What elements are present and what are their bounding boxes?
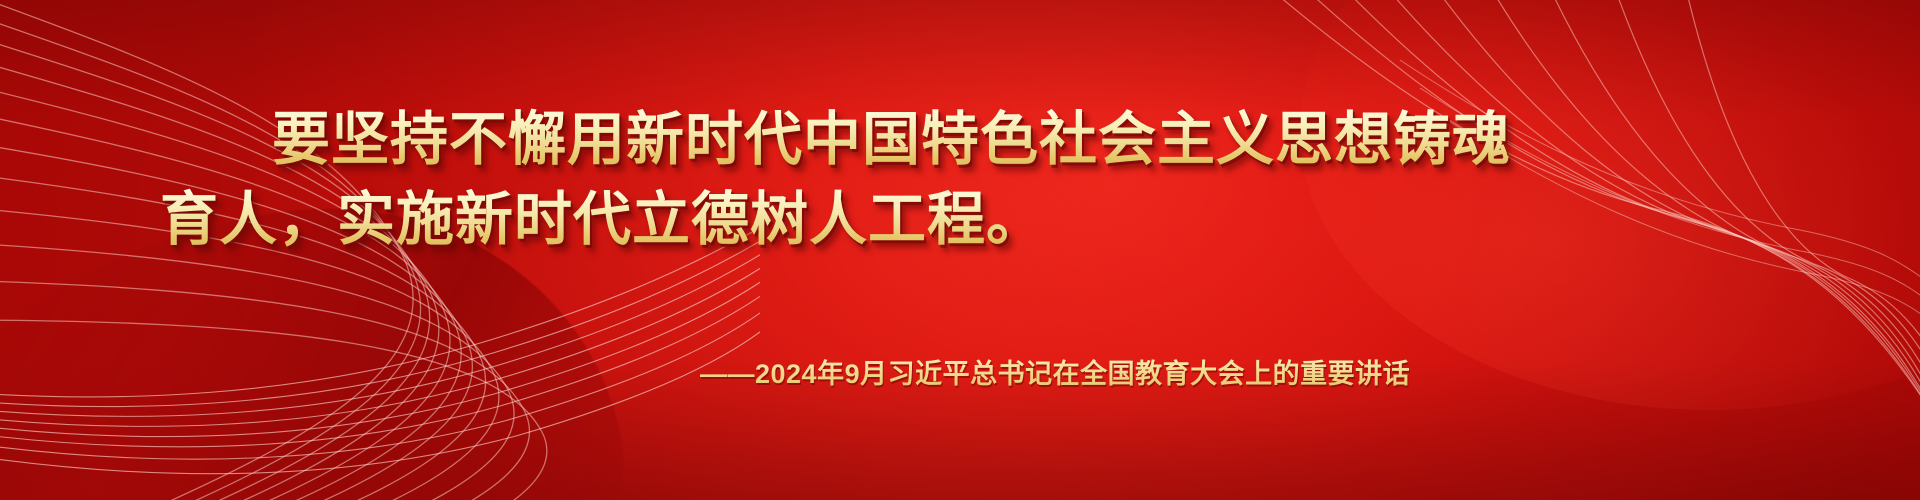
slogan-banner: 要坚持不懈用新时代中国特色社会主义思想铸魂 育人，实施新时代立德树人工程。 ——… xyxy=(0,0,1920,500)
quote-line-2: 育人，实施新时代立德树人工程。 xyxy=(160,188,1045,252)
quote-line-1: 要坚持不懈用新时代中国特色社会主义思想铸魂 xyxy=(272,108,1511,172)
quote-attribution: ——2024年9月习近平总书记在全国教育大会上的重要讲话 xyxy=(700,352,1410,391)
banner-content: 要坚持不懈用新时代中国特色社会主义思想铸魂 育人，实施新时代立德树人工程。 ——… xyxy=(0,0,1920,500)
